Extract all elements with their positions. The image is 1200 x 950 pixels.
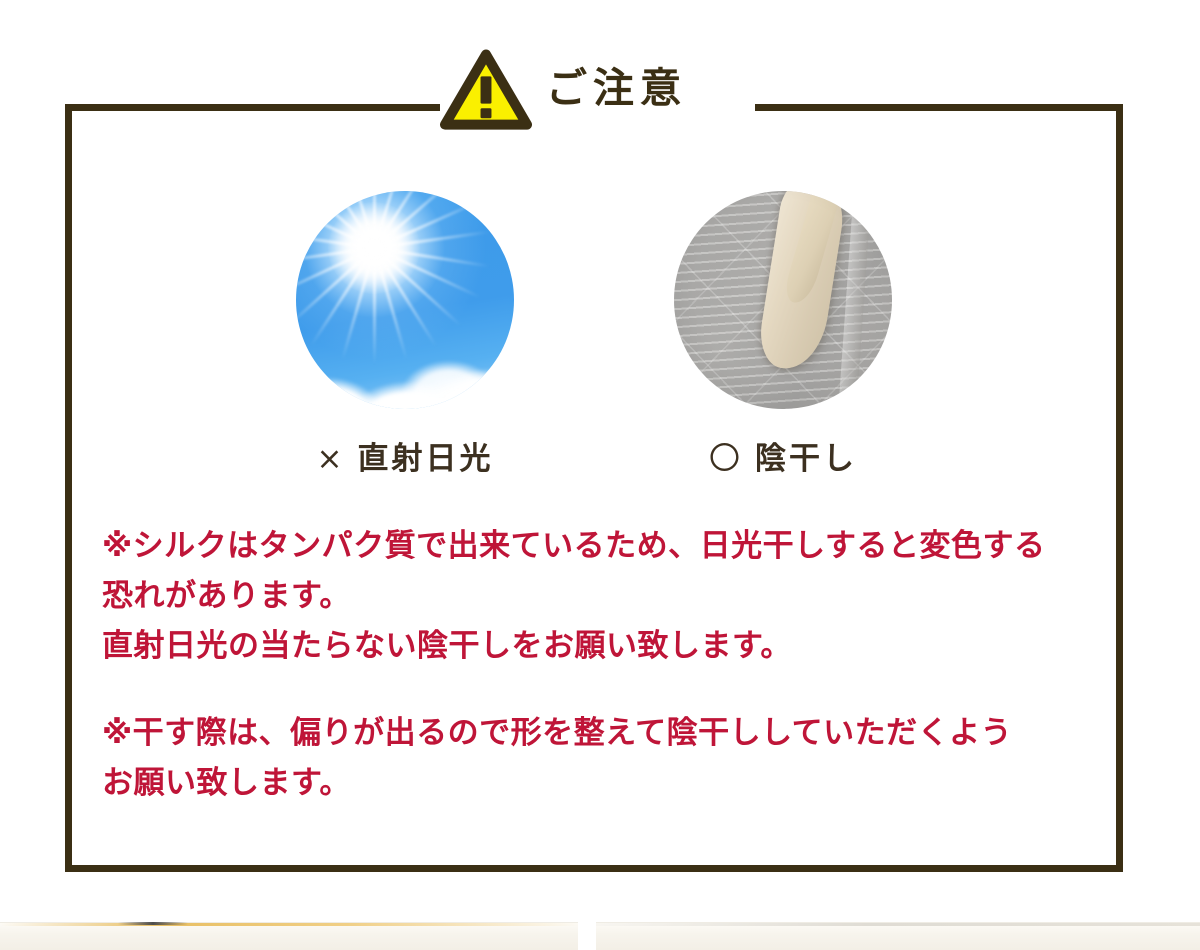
cross-mark-icon: ×	[317, 441, 346, 477]
photo-comparison-row: ×直射日光 〇陰干し	[72, 191, 1116, 478]
circle-mark-icon: 〇	[709, 441, 743, 477]
panel-nick	[118, 922, 188, 925]
warning-triangle-icon	[440, 49, 532, 131]
caption-direct-sunlight: ×直射日光	[317, 433, 494, 478]
caption-text: 直射日光	[357, 441, 493, 477]
notice-page: ×直射日光 〇陰干し ※シルクはタンパク質で	[0, 0, 1200, 950]
gold-strip	[596, 923, 1200, 926]
photo-vignette	[674, 191, 892, 409]
shade-drying-photo	[674, 191, 892, 409]
next-section-preview	[0, 922, 1200, 950]
notice-heading: ご注意	[440, 42, 770, 138]
photo-item-shade-drying: 〇陰干し	[674, 191, 892, 478]
paragraph-1-line-3: 直射日光の当たらない陰干しをお願い致します。	[102, 621, 1096, 671]
body-copy: ※シルクはタンパク質で出来ているため、日光干しすると変色する 恐れがあります。 …	[102, 521, 1096, 808]
gold-strip	[0, 923, 578, 926]
caption-text: 陰干し	[755, 441, 857, 477]
page-title: ご注意	[546, 68, 687, 113]
paragraph-1-line-1: ※シルクはタンパク質で出来ているため、日光干しすると変色する	[102, 521, 1096, 571]
next-panel-left	[0, 922, 578, 950]
paragraph-2-line-1: ※干す際は、偏りが出るので形を整えて陰干ししていただくよう	[102, 708, 1096, 758]
photo-item-direct-sunlight: ×直射日光	[296, 191, 514, 478]
direct-sunlight-photo	[296, 191, 514, 409]
next-panel-right	[596, 922, 1200, 950]
paragraph-1: ※シルクはタンパク質で出来ているため、日光干しすると変色する 恐れがあります。 …	[102, 521, 1096, 672]
caption-shade-drying: 〇陰干し	[709, 433, 857, 478]
cloud-bank	[296, 344, 514, 409]
paragraph-2-line-2: お願い致します。	[102, 758, 1096, 808]
paragraph-2: ※干す際は、偏りが出るので形を整えて陰干ししていただくよう お願い致します。	[102, 708, 1096, 808]
notice-frame: ×直射日光 〇陰干し ※シルクはタンパク質で	[65, 104, 1123, 872]
paragraph-1-line-2: 恐れがあります。	[102, 571, 1096, 621]
